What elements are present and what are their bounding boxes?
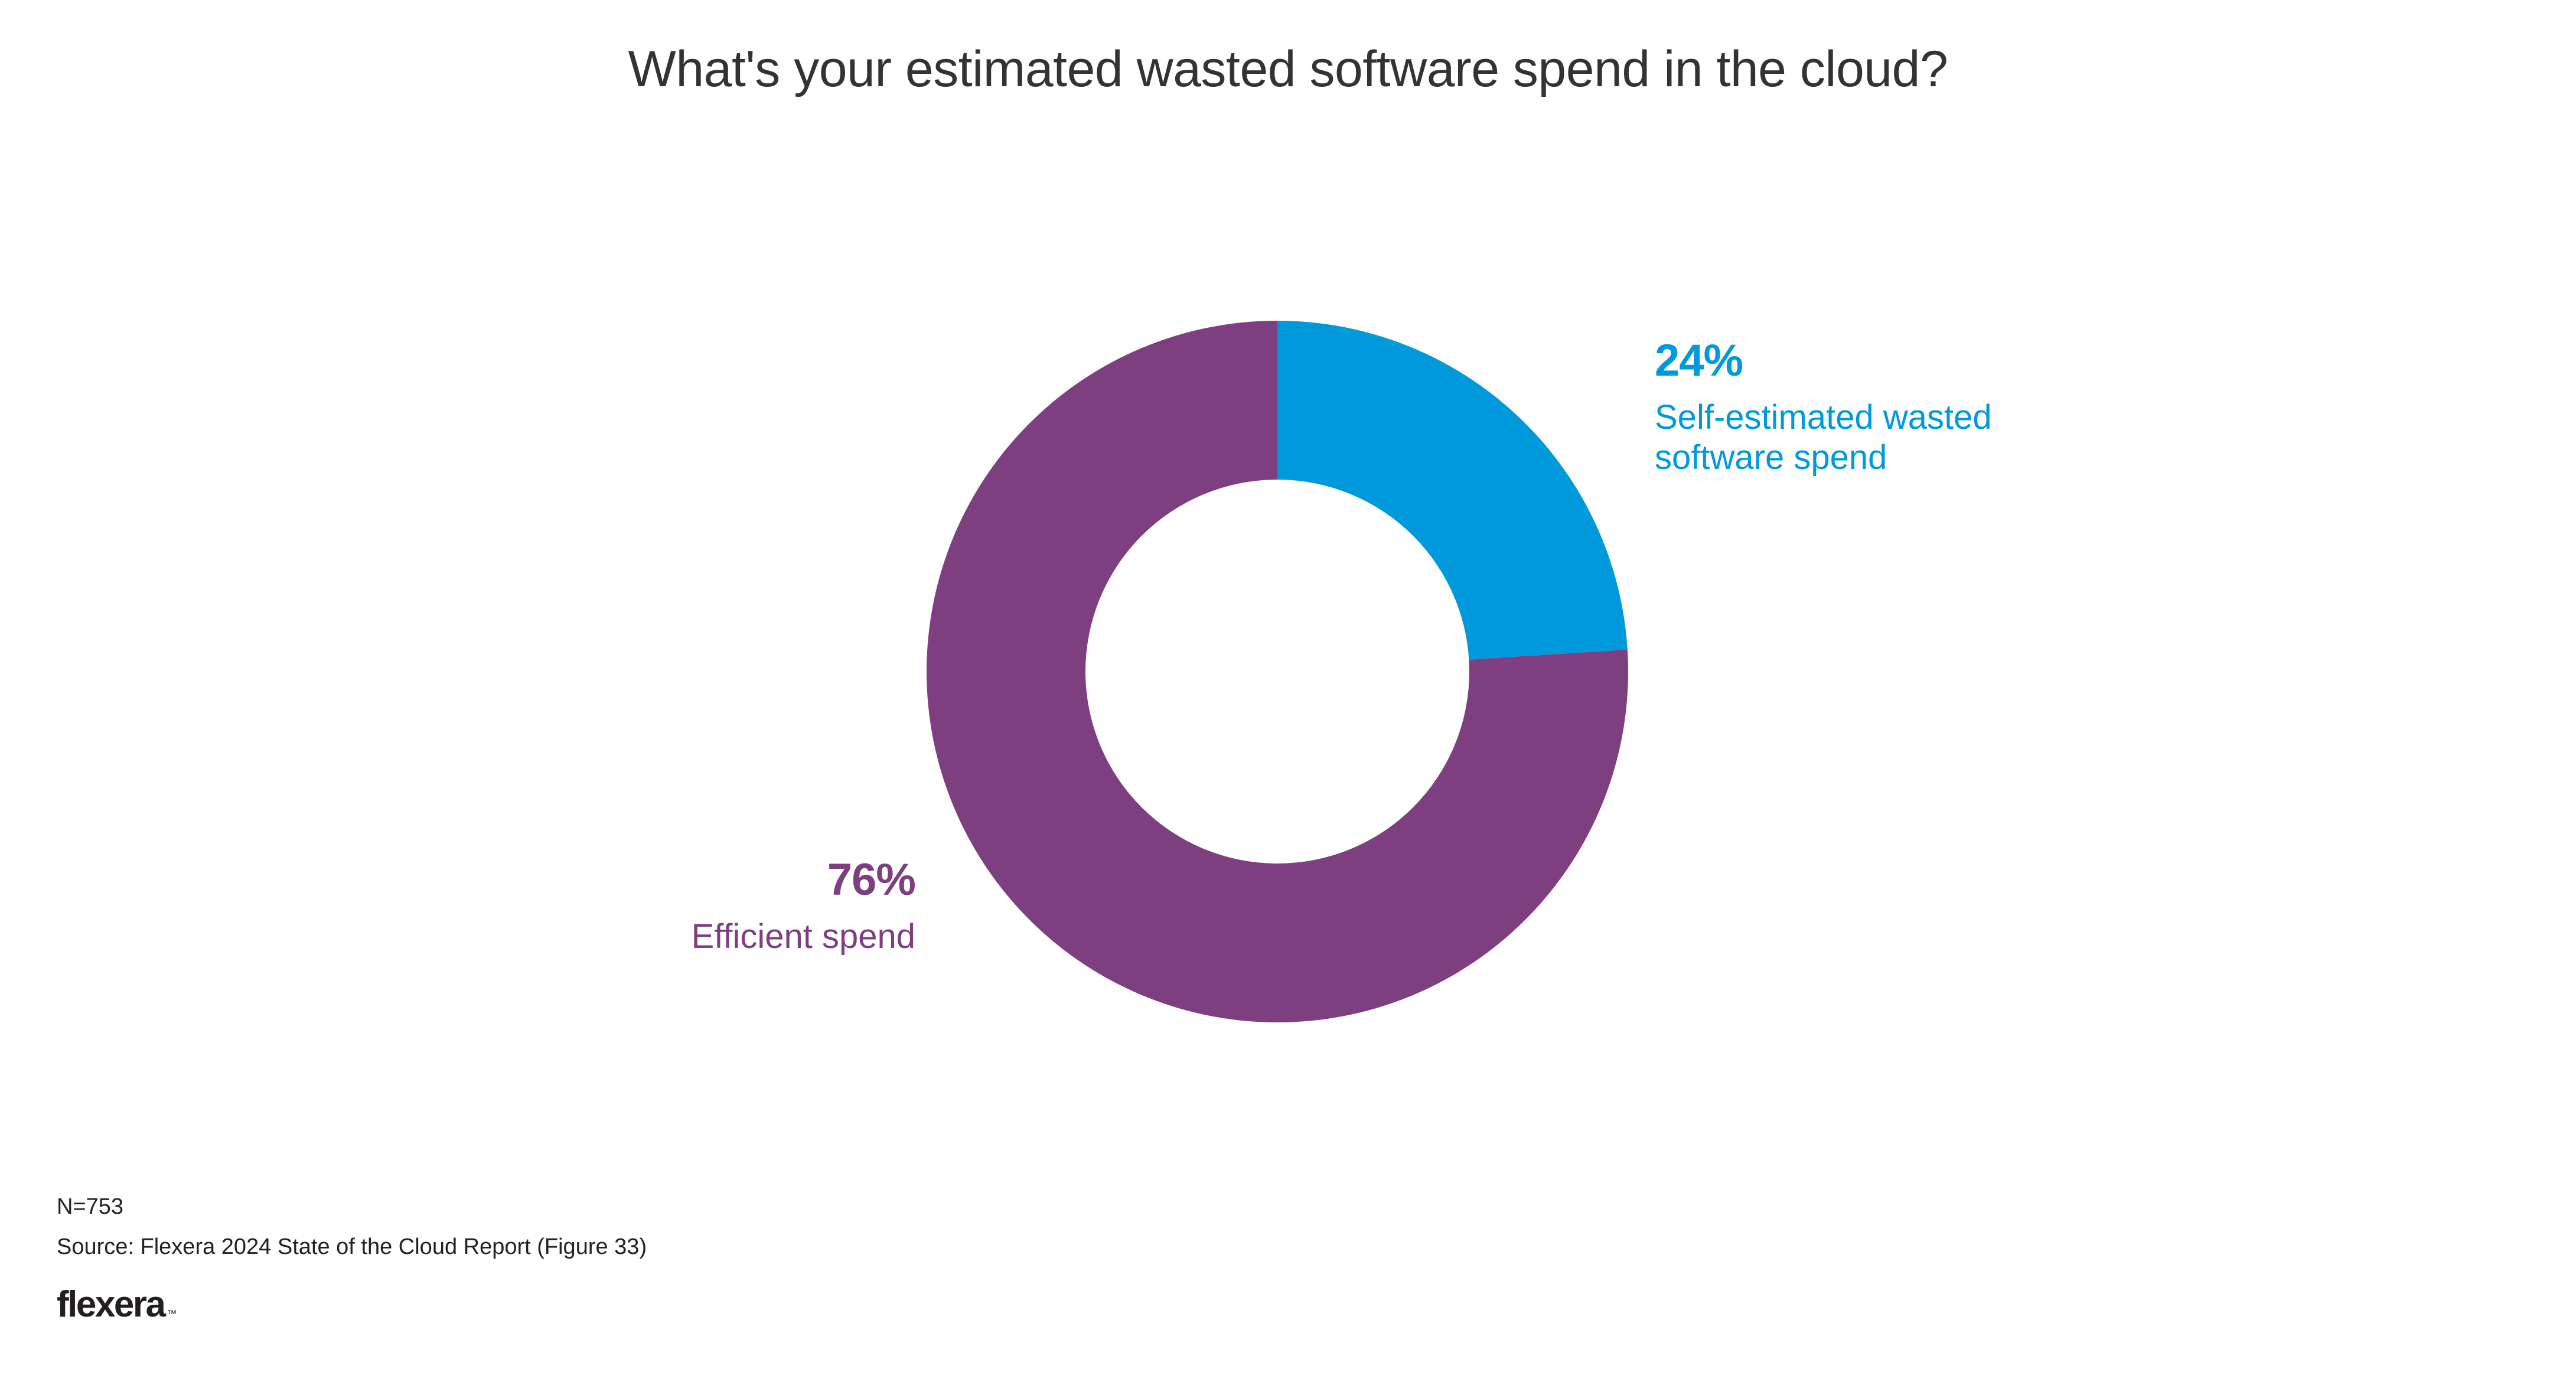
donut-slice-wasted-spend[interactable] bbox=[1277, 321, 1628, 672]
callout-wasted-spend: 24% Self-estimated wasted software spend bbox=[1655, 338, 2245, 478]
callout-label-efficient-spend: Efficient spend bbox=[325, 917, 915, 957]
footer: N=753 Source: Flexera 2024 State of the … bbox=[57, 1195, 647, 1258]
sample-size-text: N=753 bbox=[57, 1195, 647, 1218]
callout-label-line-1: Self-estimated wasted bbox=[1655, 397, 2245, 438]
flexera-wordmark: flexera bbox=[57, 1286, 164, 1323]
trademark-icon: ™ bbox=[167, 1309, 177, 1319]
callout-efficient-spend: 76% Efficient spend bbox=[325, 858, 915, 957]
callout-label-wasted-spend: Self-estimated wasted software spend bbox=[1655, 397, 2245, 478]
flexera-logo: flexera ™ bbox=[57, 1286, 177, 1323]
callout-label-line-2: software spend bbox=[1655, 438, 2245, 478]
donut-svg bbox=[927, 321, 1628, 1022]
callout-percent-wasted-spend: 24% bbox=[1655, 338, 2245, 383]
source-text: Source: Flexera 2024 State of the Cloud … bbox=[57, 1236, 647, 1258]
chart-title: What's your estimated wasted software sp… bbox=[0, 40, 2576, 99]
callout-percent-efficient-spend: 76% bbox=[325, 858, 915, 902]
donut-chart bbox=[927, 321, 1628, 1022]
callout-label-line-1: Efficient spend bbox=[325, 917, 915, 957]
